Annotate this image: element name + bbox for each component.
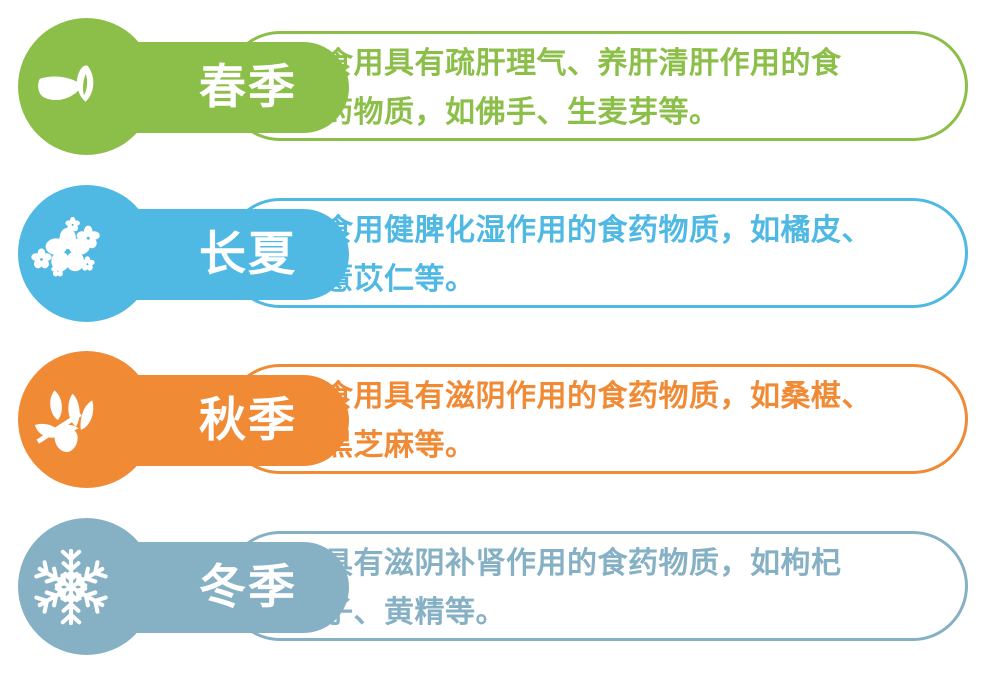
- description-text: 食用健脾化湿作用的食药物质，如橘皮、 薏苡仁等。: [323, 206, 948, 304]
- season-label: 冬季: [158, 555, 338, 619]
- season-row-spring: 食用具有疏肝理气、养肝清肝作用的食 药物质，如佛手、生麦芽等。 春季: [0, 0, 986, 165]
- season-label: 春季: [158, 55, 338, 119]
- season-row-winter: 具有滋阴补肾作用的食药物质，如枸杞 子、黄精等。: [0, 500, 986, 665]
- snowflake-icon: [28, 546, 114, 628]
- branch-fruit-icon: [28, 379, 114, 461]
- season-label: 秋季: [158, 388, 338, 452]
- description-text: 食用具有滋阴作用的食药物质，如桑椹、 黑芝麻等。: [323, 372, 948, 470]
- description-text: 食用具有疏肝理气、养肝清肝作用的食 药物质，如佛手、生麦芽等。: [323, 39, 948, 137]
- description-text: 具有滋阴补肾作用的食药物质，如枸杞 子、黄精等。: [323, 539, 948, 637]
- season-row-long-summer: 食用健脾化湿作用的食药物质，如橘皮、 薏苡仁等。: [0, 167, 986, 332]
- leaf-icon: [28, 46, 114, 128]
- cherry-blossom-icon: [28, 213, 114, 295]
- season-label: 长夏: [158, 222, 338, 286]
- seasonal-diet-infographic: 食用具有疏肝理气、养肝清肝作用的食 药物质，如佛手、生麦芽等。 春季 食用健脾化…: [0, 0, 986, 673]
- season-row-autumn: 食用具有滋阴作用的食药物质，如桑椹、 黑芝麻等。: [0, 333, 986, 498]
